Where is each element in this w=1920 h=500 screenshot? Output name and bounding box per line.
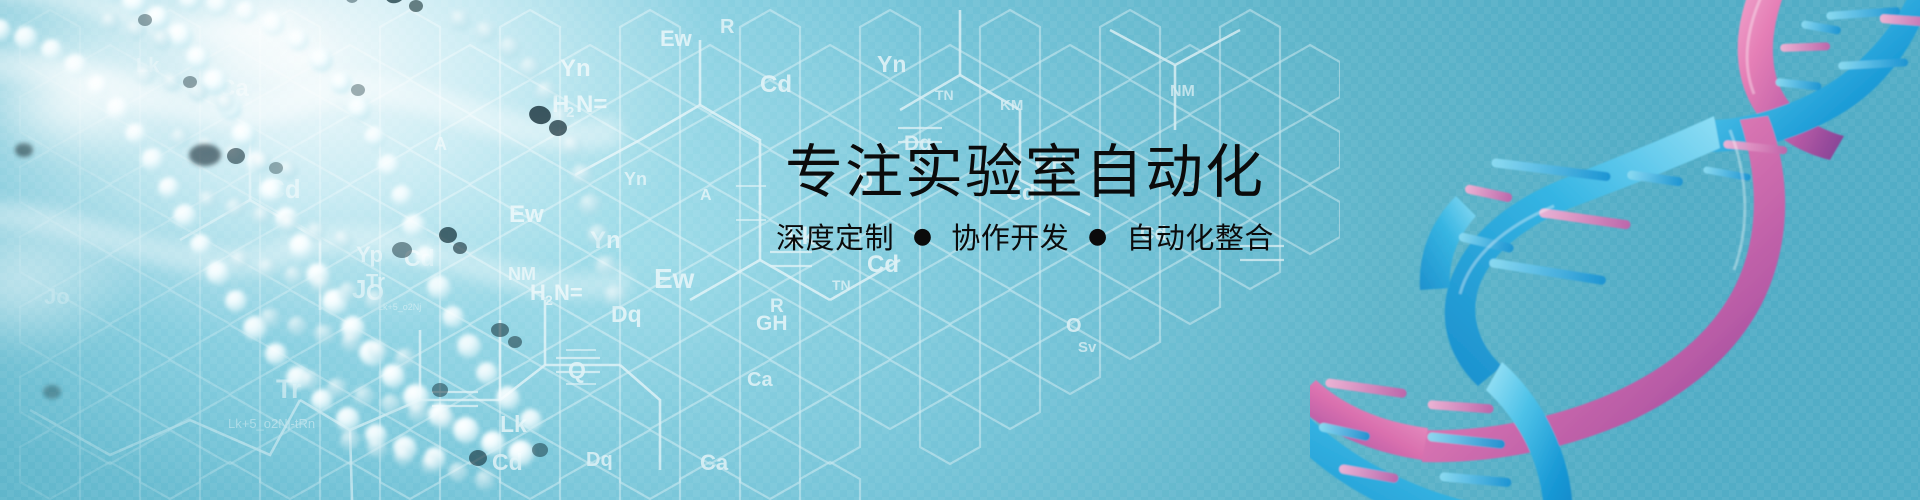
hero-tagline: 深度定制 ● 协作开发 ● 自动化整合 <box>755 218 1295 256</box>
svg-text:Cd: Cd <box>760 71 792 98</box>
svg-text:TN: TN <box>935 87 954 103</box>
hero-banner: Tr Q Ca GH Lk Lk+5_o2Nj-tRn J Tr O Lk+5_… <box>0 0 1920 500</box>
svg-text:Sv: Sv <box>1078 339 1097 356</box>
svg-text:NM: NM <box>1170 83 1195 100</box>
svg-text:TN: TN <box>832 277 851 293</box>
bullet-separator-icon: ● <box>913 224 933 249</box>
svg-text:KM: KM <box>1000 97 1023 114</box>
dna-bead-helix-icon <box>0 0 720 500</box>
svg-text:O: O <box>1066 315 1082 337</box>
tagline-segment-2: 协作开发 <box>951 221 1069 255</box>
svg-text:Yn: Yn <box>877 51 906 77</box>
svg-text:R: R <box>720 16 735 38</box>
svg-text:Ca: Ca <box>747 369 773 391</box>
page-title: 专注实验室自动化 <box>755 138 1295 206</box>
svg-text:R: R <box>770 296 784 317</box>
tagline-segment-3: 自动化整合 <box>1126 221 1274 255</box>
hero-copy: 专注实验室自动化 深度定制 ● 协作开发 ● 自动化整合 <box>755 138 1295 257</box>
dna-ribbon-helix-icon <box>1310 0 1920 500</box>
bullet-separator-icon: ● <box>1088 224 1108 249</box>
tagline-segment-1: 深度定制 <box>776 221 894 255</box>
